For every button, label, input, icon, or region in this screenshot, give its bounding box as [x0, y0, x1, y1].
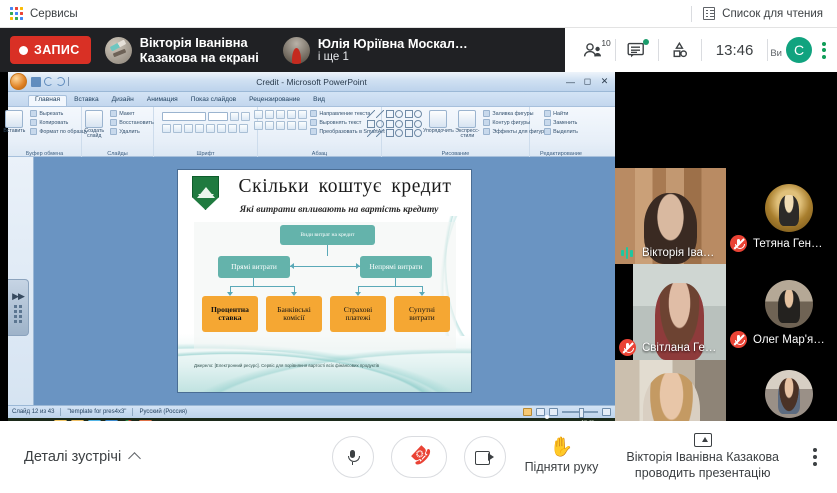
fill-icon [483, 110, 490, 117]
diagram-connector [253, 278, 254, 286]
quick-styles-button[interactable]: Экспресс-стили [454, 110, 480, 140]
header-actions: 10 13:46 [565, 28, 837, 72]
hangup-phone-icon [409, 448, 428, 467]
arrange-icon [429, 110, 447, 128]
align-center-button[interactable] [265, 121, 274, 130]
align-right-button[interactable] [276, 121, 285, 130]
replace-button[interactable]: Заменить [544, 119, 578, 126]
arrange-label: Упорядочить [423, 129, 454, 134]
diagram-leaf-1: Процентна ставка [202, 296, 258, 332]
participant-tile[interactable]: Світлана Ге… [615, 264, 726, 360]
tab-insert[interactable]: Вставка [68, 96, 105, 106]
browser-bookmarks-bar: Сервисы Список для чтения [0, 0, 837, 28]
ribbon-group-editing: Найти Заменить Выделить Редактирование [530, 107, 592, 157]
microphone-button[interactable] [332, 436, 374, 478]
underline-button[interactable] [184, 124, 193, 133]
apps-shortcut-label: Сервисы [30, 8, 78, 20]
diagram-connector [290, 266, 364, 267]
quick-styles-icon [458, 110, 476, 128]
increase-indent-button[interactable] [287, 110, 296, 119]
slide-sorter-button[interactable] [536, 408, 545, 416]
presenting-line2: проводить презентацію [635, 466, 771, 480]
star-shape-icon[interactable] [414, 120, 422, 128]
ribbon-group-paragraph: Направление текста Выровнять текст Преоб… [258, 107, 382, 157]
diagram-connector [327, 245, 328, 256]
grip-dots-icon [14, 305, 22, 323]
rounded-rect-icon[interactable] [405, 110, 413, 118]
secondary-participant-chip[interactable]: Юлія Юріївна Москал… і ще 1 [283, 29, 478, 71]
normal-view-button[interactable] [523, 408, 532, 416]
header-more-options-button[interactable] [818, 42, 833, 59]
find-button[interactable]: Найти [544, 110, 578, 117]
ribbon-group-slides: Создать слайд Макет Восстановить Удалить… [82, 107, 154, 157]
secondary-chip-sub: і ще 1 [318, 51, 468, 65]
recording-badge: ЗАПИС [10, 36, 91, 64]
format-painter-button[interactable]: Формат по образцу [30, 128, 87, 135]
new-slide-icon [85, 110, 103, 128]
freeform-shape-icon[interactable] [376, 129, 384, 137]
diagram-connector [230, 286, 295, 287]
expand-panel-handle[interactable]: ▶▶ [8, 279, 29, 336]
presenter-name-line2: Казакова на екрані [140, 50, 259, 65]
curve-shape-icon[interactable] [367, 129, 375, 137]
reading-list-icon [703, 7, 715, 20]
speaking-indicator-icon [619, 246, 636, 260]
layout-button[interactable]: Макет [110, 110, 154, 117]
copy-button[interactable]: Копировать [30, 119, 87, 126]
participant-tile[interactable]: Тетяна Ген… [726, 168, 837, 264]
more-shapes-icon[interactable] [414, 129, 422, 137]
diagram-root-box: Види витрат на кредит [280, 225, 375, 245]
you-label: Ви [770, 48, 782, 63]
avatar [765, 280, 813, 328]
presenter-chip[interactable]: Вікторія Іванівна Казакова на екрані [105, 29, 269, 71]
font-family-input[interactable] [162, 112, 206, 121]
slide-source-note: Джерело: [Електронний ресурс]. Сервіс дл… [194, 363, 460, 368]
chat-button[interactable] [616, 28, 658, 72]
ellipse-shape-icon[interactable] [376, 120, 384, 128]
strikethrough-button[interactable] [195, 124, 204, 133]
brush-icon [30, 128, 37, 135]
slide[interactable]: Скільки коштує кредит Які витрати вплива… [178, 170, 471, 392]
slide-diagram: Види витрат на кредит Прямі витрати Непр… [194, 222, 456, 350]
smartart-icon [310, 128, 317, 135]
font-size-input[interactable] [208, 112, 228, 121]
slide-number-status: Слайд 12 из 43 [12, 409, 54, 415]
select-button[interactable]: Выделить [544, 128, 578, 135]
presenting-line1: Вікторія Іванівна Казакова [626, 450, 779, 464]
mic-muted-icon [730, 235, 747, 252]
diagram-leaf-2: Банківські комісії [266, 296, 322, 332]
delete-icon [110, 128, 117, 135]
participant-name: Олег Мар'я… [753, 334, 825, 346]
align-left-button[interactable] [254, 121, 263, 130]
decrease-indent-button[interactable] [276, 110, 285, 119]
cut-button[interactable]: Вырезать [30, 110, 87, 117]
apps-grid-icon [10, 7, 23, 20]
present-screen-icon [694, 433, 712, 447]
line-spacing-button[interactable] [298, 110, 307, 119]
raise-hand-label: Підняти руку [525, 460, 599, 476]
replace-icon [544, 119, 551, 126]
mic-muted-icon [730, 331, 747, 348]
powerpoint-work-area: Скільки коштує кредит Які витрати вплива… [8, 157, 615, 405]
camera-button[interactable] [464, 436, 506, 478]
presenter-name-line1: Вікторія Іванівна [140, 35, 259, 50]
diagram-leaf-4: Супутні витрати [394, 296, 450, 332]
meeting-clock: 13:46 [702, 42, 768, 59]
shape-gallery-row[interactable] [367, 129, 423, 137]
oval-shape-icon[interactable] [395, 110, 403, 118]
participant-rail: Вікторія Іва… Тетяна Ген… Світлана Ге… [615, 72, 837, 421]
columns-button[interactable] [298, 121, 307, 130]
diagram-leaf-3: Страхові платежі [330, 296, 386, 332]
meeting-details-button[interactable]: Деталі зустрічі [24, 449, 139, 465]
increase-font-button[interactable] [230, 112, 239, 121]
arrow-shape-icon[interactable] [376, 110, 384, 118]
decrease-font-button[interactable] [241, 112, 250, 121]
copy-icon [30, 119, 37, 126]
diagram-branch-left: Прямі витрати [218, 256, 290, 278]
theme-status: "template for pres4x3" [67, 409, 126, 415]
reset-icon [110, 119, 117, 126]
participant-name: Тетяна Ген… [753, 238, 823, 250]
ribbon-group-clipboard: Вставить Вырезать Копировать Формат по о… [8, 107, 82, 157]
pentagon-shape-icon[interactable] [386, 120, 394, 128]
outline-icon [483, 119, 490, 126]
select-icon [544, 128, 551, 135]
powerpoint-ribbon: Вставить Вырезать Копировать Формат по о… [8, 107, 615, 157]
shared-screen[interactable]: Credit - Microsoft PowerPoint — ◻ ✕ Глав… [8, 72, 615, 420]
fit-to-window-button[interactable] [602, 408, 611, 416]
participant-tile[interactable]: Олег Мар'я… [726, 264, 837, 360]
slide-subtitle: Які витрати впливають на вартість кредит… [214, 204, 464, 215]
participants-count: 10 [601, 38, 610, 48]
participant-name: Світлана Ге… [642, 342, 716, 354]
tab-home[interactable]: Главная [28, 95, 67, 106]
text-direction-icon [310, 110, 317, 117]
diagram-connector [395, 278, 396, 286]
more-options-button[interactable] [807, 448, 823, 466]
recording-dot-icon [19, 46, 28, 55]
diagram-arrow-left [290, 263, 294, 269]
bookmark-divider [691, 6, 692, 22]
layout-icon [110, 110, 117, 117]
flowchart-shape-icon[interactable] [405, 129, 413, 137]
reset-button[interactable]: Восстановить [110, 119, 154, 126]
avatar [765, 184, 813, 232]
powerpoint-status-bar: Слайд 12 из 43 "template for pres4x3" Ру… [8, 405, 615, 418]
tab-view[interactable]: Вид [307, 96, 331, 106]
primary-call-controls [332, 436, 506, 478]
shape-gallery-row[interactable] [367, 110, 423, 118]
triangle-shape-icon[interactable] [367, 120, 375, 128]
align-text-icon [310, 119, 317, 126]
diagram-connector [358, 286, 422, 287]
shape-gallery-row[interactable] [367, 120, 423, 128]
tab-design[interactable]: Дизайн [106, 96, 140, 106]
chevron-up-icon [128, 452, 141, 465]
microphone-icon [348, 450, 358, 465]
scissors-icon [30, 110, 37, 117]
your-account[interactable]: Ви C [768, 37, 818, 63]
slide-canvas[interactable]: Скільки коштує кредит Які витрати вплива… [34, 157, 615, 405]
arrange-button[interactable]: Упорядочить [425, 110, 451, 134]
italic-button[interactable] [173, 124, 182, 133]
ribbon-group-font: Шрифт [154, 107, 258, 157]
camera-icon [475, 451, 494, 463]
chat-unread-badge [643, 39, 649, 45]
new-slide-button[interactable]: Создать слайд [81, 110, 107, 140]
raised-hand-icon: ✋ [550, 438, 574, 457]
activities-button[interactable] [659, 28, 701, 72]
mouse-cursor [545, 415, 549, 419]
rect-shape-icon[interactable] [386, 110, 394, 118]
presenting-status[interactable]: Вікторія Іванівна Казакова проводить пре… [626, 433, 779, 481]
powerpoint-window-title: Credit - Microsoft PowerPoint [8, 77, 615, 87]
shapes-icon [670, 41, 689, 59]
char-spacing-button[interactable] [217, 124, 226, 133]
shadow-button[interactable] [206, 124, 215, 133]
slide-title: Скільки коштує кредит [226, 176, 464, 198]
justify-button[interactable] [287, 121, 296, 130]
chevron-right-double-icon: ▶▶ [12, 292, 24, 301]
line-shape-icon[interactable] [367, 110, 375, 118]
meet-header: ЗАПИС Вікторія Іванівна Казакова на екра… [0, 28, 837, 72]
apps-shortcut[interactable]: Сервисы [10, 7, 78, 20]
language-status[interactable]: Русский (Россия) [139, 409, 187, 415]
recording-label: ЗАПИС [34, 43, 80, 57]
bold-button[interactable] [162, 124, 171, 133]
avatar [765, 370, 813, 418]
participant-name: Вікторія Іва… [642, 247, 714, 259]
callout-shape-icon[interactable] [395, 129, 403, 137]
avatar [105, 37, 132, 64]
powerpoint-ribbon-tabs: Главная Вставка Дизайн Анимация Показ сл… [8, 92, 615, 107]
zoom-slider[interactable] [562, 411, 598, 413]
ribbon-group-drawing: Упорядочить Экспресс-стили Заливка фигур… [382, 107, 530, 157]
leave-call-button[interactable] [391, 436, 447, 478]
change-case-button[interactable] [228, 124, 237, 133]
tab-slideshow[interactable]: Показ слайдов [185, 96, 242, 106]
meeting-controls-bar: Деталі зустрічі ✋ Підняти руку Віктор [0, 421, 837, 493]
participant-tile[interactable]: Вікторія Іва… [615, 168, 726, 264]
brace-shape-icon[interactable] [386, 129, 394, 137]
tab-animation[interactable]: Анимация [141, 96, 184, 106]
numbering-button[interactable] [265, 110, 274, 119]
paste-button[interactable]: Вставить [1, 110, 27, 134]
search-icon [544, 110, 551, 117]
delete-slide-button[interactable]: Удалить [110, 128, 154, 135]
font-color-button[interactable] [239, 124, 248, 133]
new-slide-label: Создать слайд [81, 129, 107, 140]
diagram-branch-right: Непрямі витрати [360, 256, 432, 278]
meet-screen: Сервисы Список для чтения ЗАПИС Вікторія… [0, 0, 837, 493]
mic-muted-icon [619, 339, 636, 356]
bullets-button[interactable] [254, 110, 263, 119]
raise-hand-button[interactable]: ✋ Підняти руку [525, 438, 599, 476]
secondary-chip-name: Юлія Юріївна Москал… [318, 36, 468, 51]
paste-label: Вставить [3, 129, 25, 134]
tab-review[interactable]: Рецензирование [243, 96, 306, 106]
donut-shape-icon[interactable] [395, 120, 403, 128]
banner-shape-icon[interactable] [405, 120, 413, 128]
reading-list-label[interactable]: Список для чтения [722, 8, 823, 20]
meeting-details-label: Деталі зустрічі [24, 449, 121, 465]
powerpoint-title-bar: Credit - Microsoft PowerPoint — ◻ ✕ [8, 72, 615, 92]
participants-button[interactable]: 10 [573, 28, 615, 72]
quick-styles-label: Экспресс-стили [454, 129, 480, 140]
secondary-controls: ✋ Підняти руку Вікторія Іванівна Казаков… [525, 433, 837, 481]
avatar [283, 37, 310, 64]
circle-shape-icon[interactable] [414, 110, 422, 118]
paste-icon [5, 110, 23, 128]
meeting-stage: Credit - Microsoft PowerPoint — ◻ ✕ Глав… [0, 72, 837, 421]
effects-icon [483, 128, 490, 135]
slideshow-view-button[interactable] [549, 408, 558, 416]
avatar[interactable]: C [786, 37, 812, 63]
